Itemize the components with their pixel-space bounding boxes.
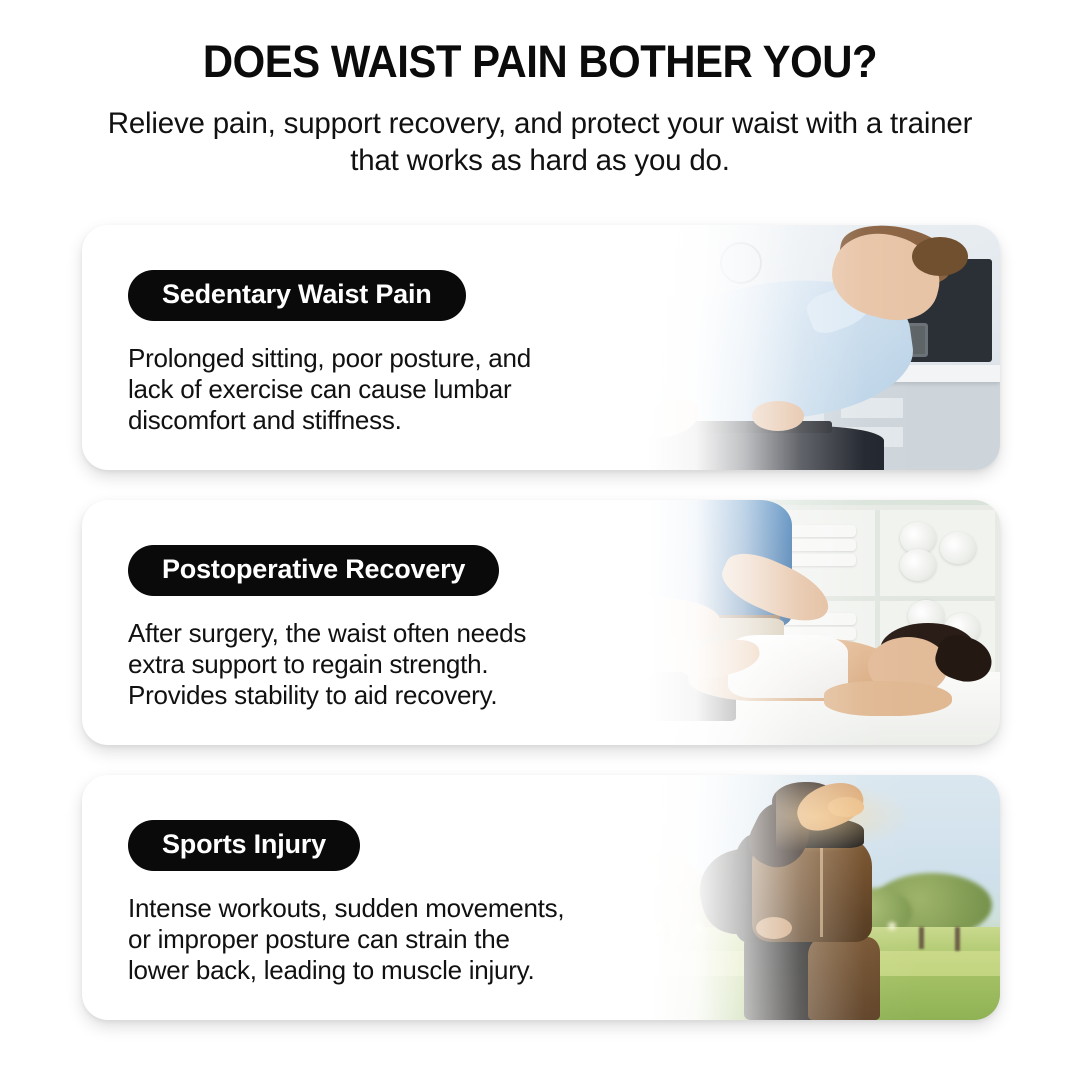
feature-card-sedentary-waist-pain[interactable]: Sedentary Waist Pain Prolonged sitting, … xyxy=(82,225,1000,470)
card-badge-postoperative-recovery: Postoperative Recovery xyxy=(128,545,499,596)
card-description-sports-injury: Intense workouts, sudden movements, or i… xyxy=(128,893,668,986)
card-badge-sedentary-waist-pain: Sedentary Waist Pain xyxy=(128,270,466,321)
card-content-postoperative-recovery: Postoperative Recovery After surgery, th… xyxy=(128,500,668,745)
feature-card-list: Sedentary Waist Pain Prolonged sitting, … xyxy=(82,225,1000,1020)
card-badge-sports-injury: Sports Injury xyxy=(128,820,360,871)
feature-card-postoperative-recovery[interactable]: Postoperative Recovery After surgery, th… xyxy=(82,500,1000,745)
feature-card-sports-injury[interactable]: Sports Injury Intense workouts, sudden m… xyxy=(82,775,1000,1020)
card-content-sedentary-waist-pain: Sedentary Waist Pain Prolonged sitting, … xyxy=(128,225,668,470)
card-description-postoperative-recovery: After surgery, the waist often needs ext… xyxy=(128,618,668,711)
card-description-sedentary-waist-pain: Prolonged sitting, poor posture, and lac… xyxy=(128,343,668,436)
card-content-sports-injury: Sports Injury Intense workouts, sudden m… xyxy=(128,775,668,1020)
poster-header: DOES WAIST PAIN BOTHER YOU? Relieve pain… xyxy=(0,0,1080,180)
page-subtitle: Relieve pain, support recovery, and prot… xyxy=(90,105,990,179)
page-title: DOES WAIST PAIN BOTHER YOU? xyxy=(38,38,1042,85)
poster-root: DOES WAIST PAIN BOTHER YOU? Relieve pain… xyxy=(0,0,1080,1080)
